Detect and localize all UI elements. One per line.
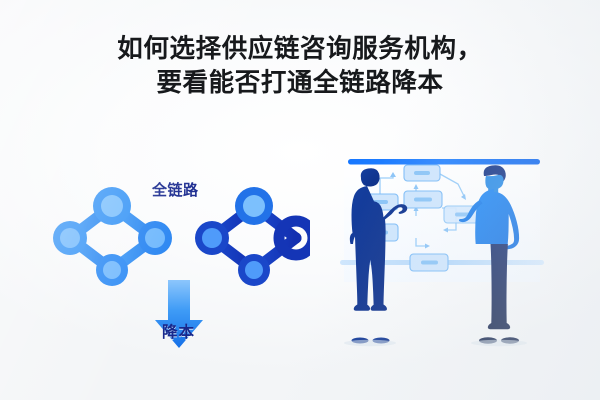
chain-diagram: 全链路 降本 [40, 168, 310, 368]
person-left-head [361, 168, 380, 186]
chain-node-n4-core [145, 228, 165, 248]
ground-shadow-left [344, 340, 396, 346]
title-line-2: 要看能否打通全链路降本 [0, 66, 600, 100]
chain-node-n5-core [202, 228, 222, 248]
title-line-1: 如何选择供应链咨询服务机构， [0, 32, 600, 66]
whiteboard-scene-svg [318, 150, 568, 365]
chain-nodes-left [53, 187, 172, 286]
flowchart-box-b1 [404, 165, 440, 181]
chain-node-n2-core [101, 195, 123, 217]
chain-label-cost: 降本 [162, 320, 195, 342]
poster-canvas: 如何选择供应链咨询服务机构， 要看能否打通全链路降本 [0, 0, 600, 400]
chain-node-n6-core [243, 195, 265, 217]
chain-node-n7-core [245, 261, 263, 279]
poster-title: 如何选择供应链咨询服务机构， 要看能否打通全链路降本 [0, 32, 600, 100]
whiteboard-top-bar [348, 159, 540, 165]
flowchart-box-b3 [410, 254, 448, 271]
chain-label-fullchain: 全链路 [152, 179, 199, 200]
chain-node-n1-core [60, 228, 80, 248]
flowchart-box-b2 [404, 191, 442, 208]
ground-shadow-right [471, 340, 527, 346]
chain-node-n3-core [103, 261, 121, 279]
whiteboard-scene [318, 150, 568, 365]
